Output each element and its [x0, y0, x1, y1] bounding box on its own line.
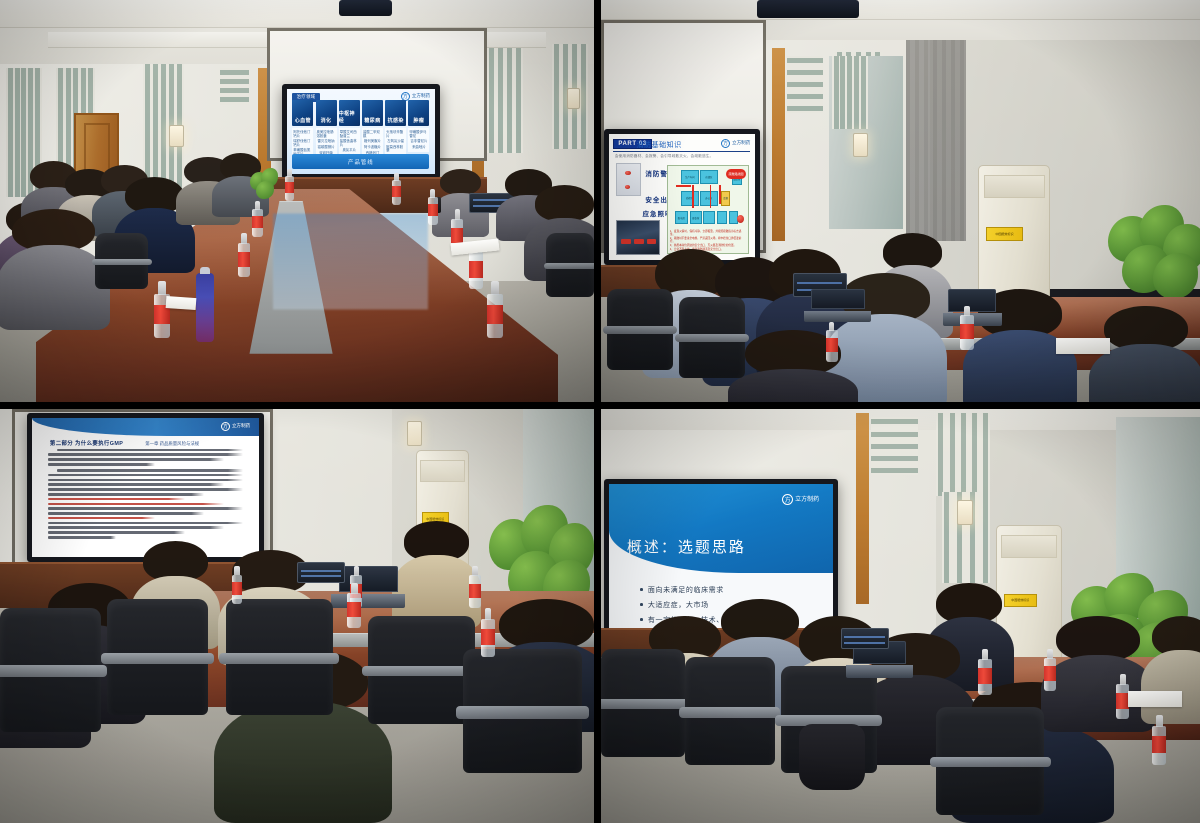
handout-papers[interactable]	[1056, 338, 1110, 354]
potted-plant	[1104, 201, 1200, 306]
slide-title: 概述：选题思路	[627, 536, 746, 557]
map-room: 质检室	[681, 191, 699, 207]
category-item: 阿莫西林胶囊	[386, 146, 405, 153]
laptop[interactable]	[811, 289, 865, 321]
category-item: 阿托伐他汀钙片	[293, 131, 312, 138]
water-bottle[interactable]	[487, 281, 503, 337]
display-screen: 治疗领域 方 立方制药 心血管 阿托伐他汀钙片瑞舒伐他汀钙片苯磺酸氨氯地平片缬沙…	[282, 84, 439, 178]
category-item: 来曲唑片	[412, 146, 426, 149]
water-bottle[interactable]	[238, 233, 250, 277]
energy-label: 中国能效标识	[1004, 594, 1037, 607]
category-item: 吉非替尼片	[410, 140, 427, 143]
slide-chapter-label: 第一章 药品质量风险与法规	[145, 441, 199, 447]
slide-fire-safety: PART 03 消防基础知识 方 立方制药 会使用消防器材、会报警、会引导疏散灭…	[609, 134, 755, 261]
water-bottle[interactable]	[392, 173, 401, 205]
collage-photo-top-right: PART 03 消防基础知识 方 立方制药 会使用消防器材、会报警、会引导疏散灭…	[598, 0, 1200, 406]
wall-stripe-panel	[936, 413, 990, 496]
map-room: 更衣室	[690, 211, 702, 224]
emergency-light-photo	[616, 220, 660, 255]
category-item: 甲磺酸伊马替尼	[409, 131, 428, 138]
category-item: 头孢呋辛酯片	[386, 131, 405, 138]
water-bottle[interactable]	[285, 169, 294, 201]
water-bottle[interactable]	[978, 649, 991, 695]
ceiling-projector	[339, 0, 392, 16]
office-chair[interactable]	[463, 649, 582, 773]
water-bottle[interactable]	[154, 281, 169, 337]
water-bottle[interactable]	[347, 583, 361, 629]
office-chair[interactable]	[107, 599, 208, 715]
water-bottle[interactable]	[428, 189, 438, 225]
category-name: 糖尿病	[364, 117, 380, 124]
potted-plant	[247, 165, 283, 201]
water-bottle[interactable]	[1044, 649, 1056, 690]
category-item: 瑞舒伐他汀钙片	[293, 140, 312, 147]
window-curtain	[906, 40, 966, 241]
energy-label: 中国能效标识	[986, 227, 1022, 240]
brand-mark-icon: 方	[721, 139, 730, 148]
water-bottle[interactable]	[826, 322, 838, 362]
slide-body-text	[48, 449, 244, 549]
brand-mark-icon: 方	[221, 422, 230, 431]
brand-logo: 方 立方制药	[221, 422, 250, 431]
portfolio-footer: 产品管线	[292, 154, 429, 168]
office-chair[interactable]	[95, 233, 148, 289]
category-item: 左氧氟沙星	[387, 140, 404, 143]
brand-name: 立方制药	[732, 141, 750, 146]
office-chair[interactable]	[0, 608, 101, 732]
office-chair[interactable]	[936, 707, 1044, 815]
av-control-rack	[297, 562, 345, 583]
brand-name: 立方制药	[232, 424, 250, 429]
handout-papers[interactable]	[1128, 691, 1182, 708]
water-bottle[interactable]	[469, 566, 481, 607]
slide-gmp-document: 方 立方制药 第二部分 为什么要执行GMP 第一章 药品质量风险与法规	[32, 418, 260, 557]
water-bottle[interactable]	[481, 608, 495, 658]
brand-mark-icon: 方	[782, 494, 793, 505]
map-room: 仓储区	[700, 170, 718, 185]
backpack	[799, 724, 865, 790]
wall-stripe-panel	[220, 68, 250, 104]
av-control-rack	[841, 628, 889, 649]
collage-photo-bottom-right: 方 立方制药 概述：选题思路 面向未满足的临床需求 大适应症，大市场 有一定的壁…	[598, 406, 1200, 823]
water-bottle[interactable]	[232, 566, 243, 603]
display-screen: 方 立方制药 第二部分 为什么要执行GMP 第一章 药品质量风险与法规	[27, 413, 265, 562]
paragraph	[48, 469, 244, 539]
category-item: 盐酸二甲双胍	[363, 131, 382, 138]
office-chair[interactable]	[679, 297, 745, 377]
slide-product-portfolio: 治疗领域 方 立方制药 心血管 阿托伐他汀钙片瑞舒伐他汀钙片苯磺酸氨氯地平片缬沙…	[287, 89, 434, 173]
wall-stripe-panel	[487, 48, 523, 153]
water-bottle[interactable]	[252, 201, 262, 237]
photo-collage: 治疗领域 方 立方制药 心血管 阿托伐他汀钙片瑞舒伐他汀钙片苯磺酸氨氯地平片缬沙…	[0, 0, 1200, 823]
wall-wood-column	[856, 413, 869, 603]
attendee	[1104, 306, 1188, 402]
wall-sconce	[407, 421, 422, 446]
office-chair[interactable]	[226, 599, 333, 715]
brand-name: 立方制药	[795, 497, 819, 503]
ceiling-projector	[757, 0, 859, 18]
evacuation-map: 生产车间 仓储区 质检室 办公区 走廊 值班室 配电房 更衣室	[667, 165, 749, 254]
collage-photo-top-left: 治疗领域 方 立方制药 心血管 阿托伐他汀钙片瑞舒伐他汀钙片苯磺酸氨氯地平片缬沙…	[0, 0, 598, 406]
attendee	[12, 209, 95, 330]
category-item: 雷贝拉唑钠	[318, 140, 335, 143]
brand-logo: 方 立方制药	[721, 139, 750, 148]
slide-subtitle: 会使用消防器材、会报警、会引导疏散灭火、会疏散逃生。	[615, 154, 714, 159]
wall-sconce	[853, 133, 869, 157]
map-room: 配电房	[675, 211, 689, 224]
map-room	[717, 211, 727, 224]
thermos-flask[interactable]	[196, 273, 214, 341]
water-bottle[interactable]	[1152, 715, 1166, 765]
office-chair[interactable]	[685, 657, 775, 765]
attendee	[1152, 616, 1200, 724]
portfolio-footer-label: 产品管线	[348, 158, 374, 166]
category-name: 心血管	[295, 117, 311, 124]
map-room	[703, 211, 715, 224]
category-item: 阿卡波糖片	[364, 146, 381, 149]
wall-stripe-panel	[871, 417, 919, 475]
wall-sconce	[567, 88, 580, 108]
category-item: 铝碳酸镁片	[318, 146, 335, 149]
office-chair[interactable]	[607, 289, 673, 369]
paragraph	[48, 449, 244, 466]
brand-logo: 方 立方制药	[782, 494, 819, 505]
slide-title: 消防基础知识	[637, 140, 682, 150]
display-screen: PART 03 消防基础知识 方 立方制药 会使用消防器材、会报警、会引导疏散灭…	[604, 129, 760, 266]
category-name: 抗感染	[388, 117, 404, 124]
category-item: 奥氮平片	[342, 149, 356, 152]
wall-wood-column	[772, 48, 785, 241]
category-item: 奥美拉唑肠溶胶囊	[317, 131, 336, 138]
office-chair[interactable]	[601, 649, 685, 757]
water-bottle[interactable]	[960, 306, 973, 350]
fire-alarm-photo	[616, 163, 641, 196]
brand-name: 立方制药	[412, 94, 430, 99]
category-name: 消化	[321, 117, 332, 124]
evacuation-note: 3、熟悉本岗位周边的安全出口、灭火器及消防栓的位置。	[670, 245, 746, 248]
slide-part-label: 第二部分 为什么要执行GMP	[50, 439, 123, 447]
evacuation-note: 2、疏散时不要乘坐电梯，严禁返回火场，棉巾捂住口鼻低姿前行。	[670, 238, 746, 243]
wall-stripe-panel	[787, 56, 823, 112]
evacuation-note: 1、发现火情时，保持冷静，立即报警，并按照疏散指示标志逃生。	[670, 231, 746, 236]
map-legend-badge: 疏散路线图	[726, 169, 747, 179]
map-room: 生产车间	[681, 170, 699, 185]
evacuation-arrow	[710, 185, 712, 208]
slide-bullet: 面向未满足的临床需求	[640, 585, 817, 595]
category-item: 格列美脲片	[364, 140, 381, 143]
category-item: 草酸艾司西酞普兰	[340, 131, 359, 138]
category-name: 中枢神经	[339, 110, 360, 124]
slide-heading: 第二部分 为什么要执行GMP 第一章 药品质量风险与法规	[50, 439, 199, 447]
evacuation-arrow	[692, 185, 694, 208]
map-room: 走廊	[721, 191, 731, 207]
collage-photo-bottom-left: 方 立方制药 第二部分 为什么要执行GMP 第一章 药品质量风险与法规	[0, 406, 598, 823]
presenter	[404, 521, 469, 629]
table-reflection	[273, 213, 427, 309]
office-chair[interactable]	[546, 233, 594, 297]
category-name: 肿瘤	[414, 117, 425, 124]
wall-stripe-panel	[832, 56, 868, 128]
wall-sconce	[957, 500, 973, 525]
evacuation-arrow	[676, 185, 690, 187]
evacuation-arrow	[719, 185, 721, 204]
category-item: 盐酸舍曲林片	[340, 140, 359, 147]
wall-sconce	[169, 125, 183, 147]
